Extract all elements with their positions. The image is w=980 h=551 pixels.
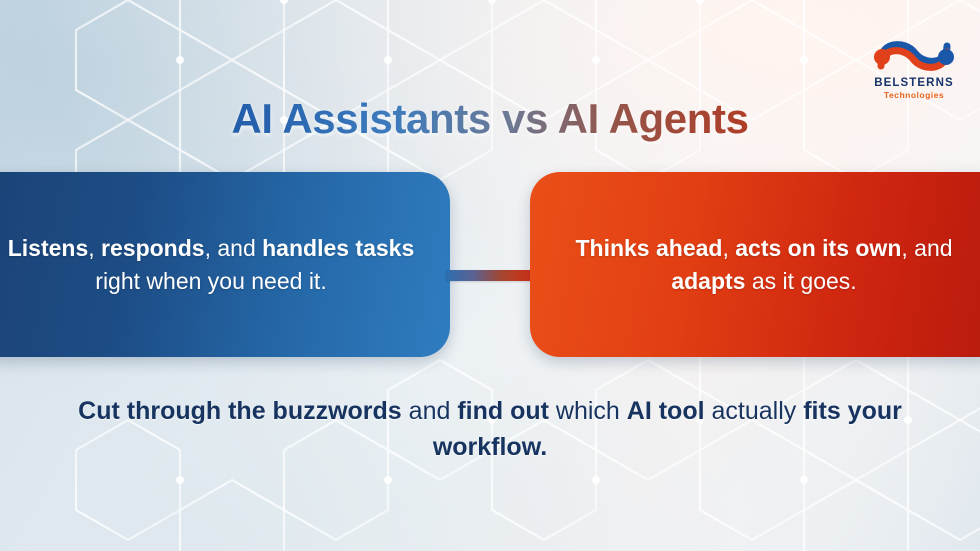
left-plain-tail: right when you need it. [95,268,326,294]
brand-logo[interactable]: BELSTERNS Technologies [862,30,966,100]
caption-text: Cut through the buzzwords and find out w… [40,393,940,466]
right-plain-and: , and [901,235,952,261]
card-connector-bar [446,270,534,281]
right-bold-adapts: adapts [671,268,745,294]
left-sep-a: , [88,235,101,261]
caption-bold-ai-tool: AI tool [627,397,705,425]
left-bold-handles-tasks: handles tasks [262,235,414,261]
ai-assistants-card[interactable]: Listens, responds, and handles tasks rig… [0,172,450,357]
ai-assistants-card-text: Listens, responds, and handles tasks rig… [0,232,450,297]
page-title: AI Assistants vs AI Agents [0,96,980,142]
caption-plain-actually: actually [705,397,804,425]
logo-company-name: BELSTERNS [862,77,966,89]
caption-bold-find-out: find out [457,397,549,425]
logo-tagline: Technologies [862,90,966,100]
caption-plain-and: and [402,397,458,425]
right-bold-thinks-ahead: Thinks ahead [575,235,722,261]
right-bold-acts-on-its-own: acts on its own [735,235,901,261]
right-plain-tail: as it goes. [745,268,856,294]
belsterns-infinity-icon [871,30,957,76]
right-sep-a: , [722,235,735,261]
left-bold-listens: Listens [8,235,89,261]
slide-canvas: AI Assistants vs AI Agents Listens, resp… [0,0,980,551]
ai-agents-card-text: Thinks ahead, acts on its own, and adapt… [530,232,980,297]
left-bold-responds: responds [101,235,205,261]
caption-plain-which: which [549,397,627,425]
ai-agents-card[interactable]: Thinks ahead, acts on its own, and adapt… [530,172,980,357]
caption-bold-buzzwords: Cut through the buzzwords [78,397,402,425]
left-plain-and: , and [205,235,263,261]
